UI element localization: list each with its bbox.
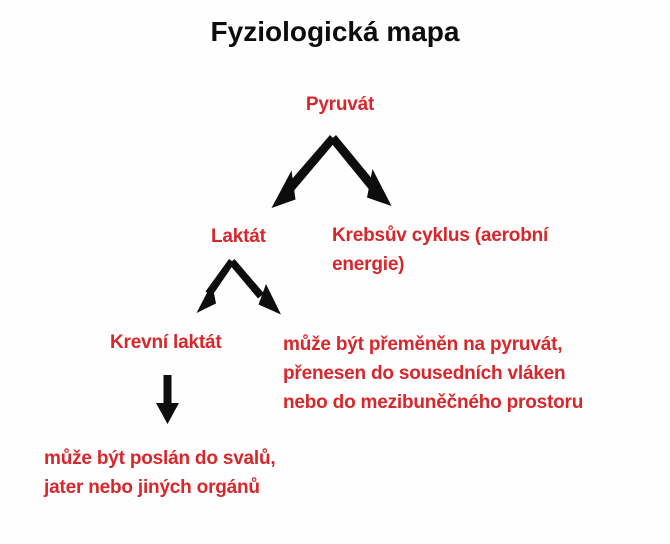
node-premenen-na-pyruvat: může být přeměněn na pyruvát, přenesen d…	[283, 331, 653, 418]
arrow-down-left-icon-shaft	[286, 135, 337, 193]
arrow-down-left-icon-head	[197, 283, 217, 313]
arrow-down-left-icon-head	[272, 171, 296, 209]
diagram-canvas: Fyziologická mapa	[0, 0, 670, 544]
node-poslan-do-svalu: může být poslán do svalů, jater nebo jin…	[44, 445, 374, 503]
arrow-down-icon-shaft	[164, 375, 172, 407]
page-title: Fyziologická mapa	[0, 14, 670, 50]
edge-laktat-to-premenen	[229, 259, 281, 315]
node-krevni-laktat: Krevní laktát	[110, 331, 221, 355]
edge-pyruvat-to-laktat	[272, 135, 337, 208]
edge-krevni-laktat-to-poslan	[156, 375, 179, 424]
node-laktat: Laktát	[211, 225, 266, 249]
arrow-down-icon-head	[156, 403, 179, 424]
arrow-down-right-icon-head	[259, 284, 282, 315]
arrow-down-right-icon-shaft	[229, 259, 264, 299]
node-krebs-cycle: Krebsův cyklus (aerobní energie)	[332, 222, 632, 280]
edge-laktat-to-krevni-laktat	[197, 259, 235, 313]
arrow-down-right-icon-shaft	[330, 135, 379, 193]
arrow-down-left-icon-shaft	[206, 259, 235, 296]
node-pyruvat: Pyruvát	[0, 93, 670, 117]
arrow-down-right-icon-head	[367, 169, 392, 206]
edge-pyruvat-to-krebs	[330, 135, 392, 206]
